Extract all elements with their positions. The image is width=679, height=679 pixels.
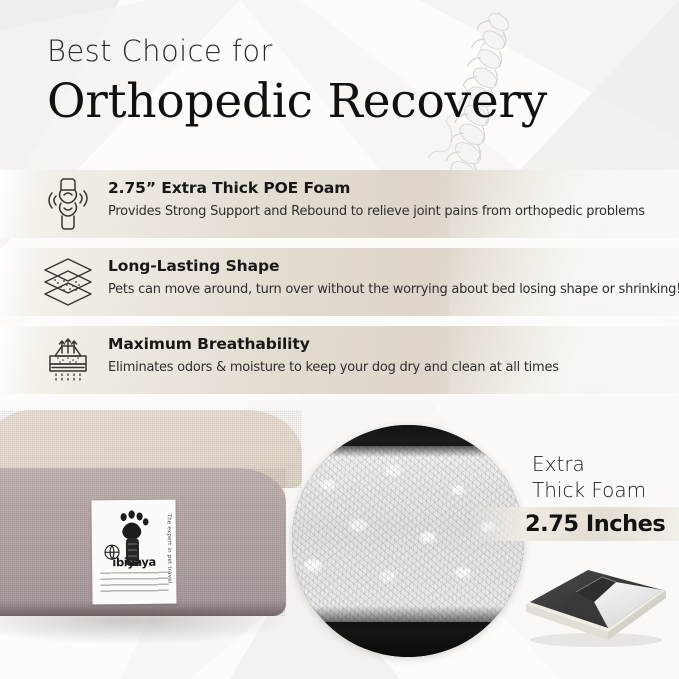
feature-row: Long-Lasting Shape Pets can move around,… <box>0 248 679 316</box>
callout-line-1: Extra <box>532 452 646 478</box>
feature-text: 2.75” Extra Thick POE Foam Provides Stro… <box>108 179 645 220</box>
feature-title: 2.75” Extra Thick POE Foam <box>108 179 645 198</box>
foam-macro-photo <box>292 425 524 657</box>
feature-description: Provides Strong Support and Rebound to r… <box>108 204 645 220</box>
feature-text: Long-Lasting Shape Pets can move around,… <box>108 257 679 298</box>
feature-row: 2.75” Extra Thick POE Foam Provides Stro… <box>0 170 679 238</box>
headline-block: Best Choice for Orthopedic Recovery <box>47 36 547 129</box>
page-title: Orthopedic Recovery <box>47 74 547 129</box>
measurement-value: 2.75 Inches <box>525 511 665 537</box>
label-fineprint <box>100 572 168 595</box>
paw-print-icon <box>120 510 148 539</box>
foam-mat-photo <box>516 552 672 648</box>
feature-list: 2.75” Extra Thick POE Foam Provides Stro… <box>0 170 679 404</box>
headline-eyebrow: Best Choice for <box>47 36 547 68</box>
stacked-layers-icon <box>40 254 96 310</box>
feature-text: Maximum Breathability Eliminates odors &… <box>108 335 559 376</box>
knee-joint-icon <box>40 176 96 232</box>
feature-title: Long-Lasting Shape <box>108 257 679 276</box>
foam-backdrop-bottom <box>292 606 524 657</box>
foam-backdrop-top <box>292 425 524 457</box>
brand-label: ibiyaya The expert in pet travel <box>91 500 176 605</box>
breathability-mattress-icon <box>40 332 96 388</box>
bed-shadow <box>0 608 288 644</box>
label-brand-name: ibiyaya <box>92 555 176 570</box>
label-vertical-text: The expert in pet travel <box>166 514 173 584</box>
feature-title: Maximum Breathability <box>108 335 559 354</box>
infographic-canvas: Best Choice for Orthopedic Recovery <box>0 0 679 679</box>
thickness-callout: Extra Thick Foam <box>532 452 646 503</box>
feature-row: Maximum Breathability Eliminates odors &… <box>0 326 679 394</box>
feature-description: Eliminates odors & moisture to keep your… <box>108 360 559 376</box>
feature-description: Pets can move around, turn over without … <box>108 282 679 298</box>
callout-line-2: Thick Foam <box>532 478 646 504</box>
